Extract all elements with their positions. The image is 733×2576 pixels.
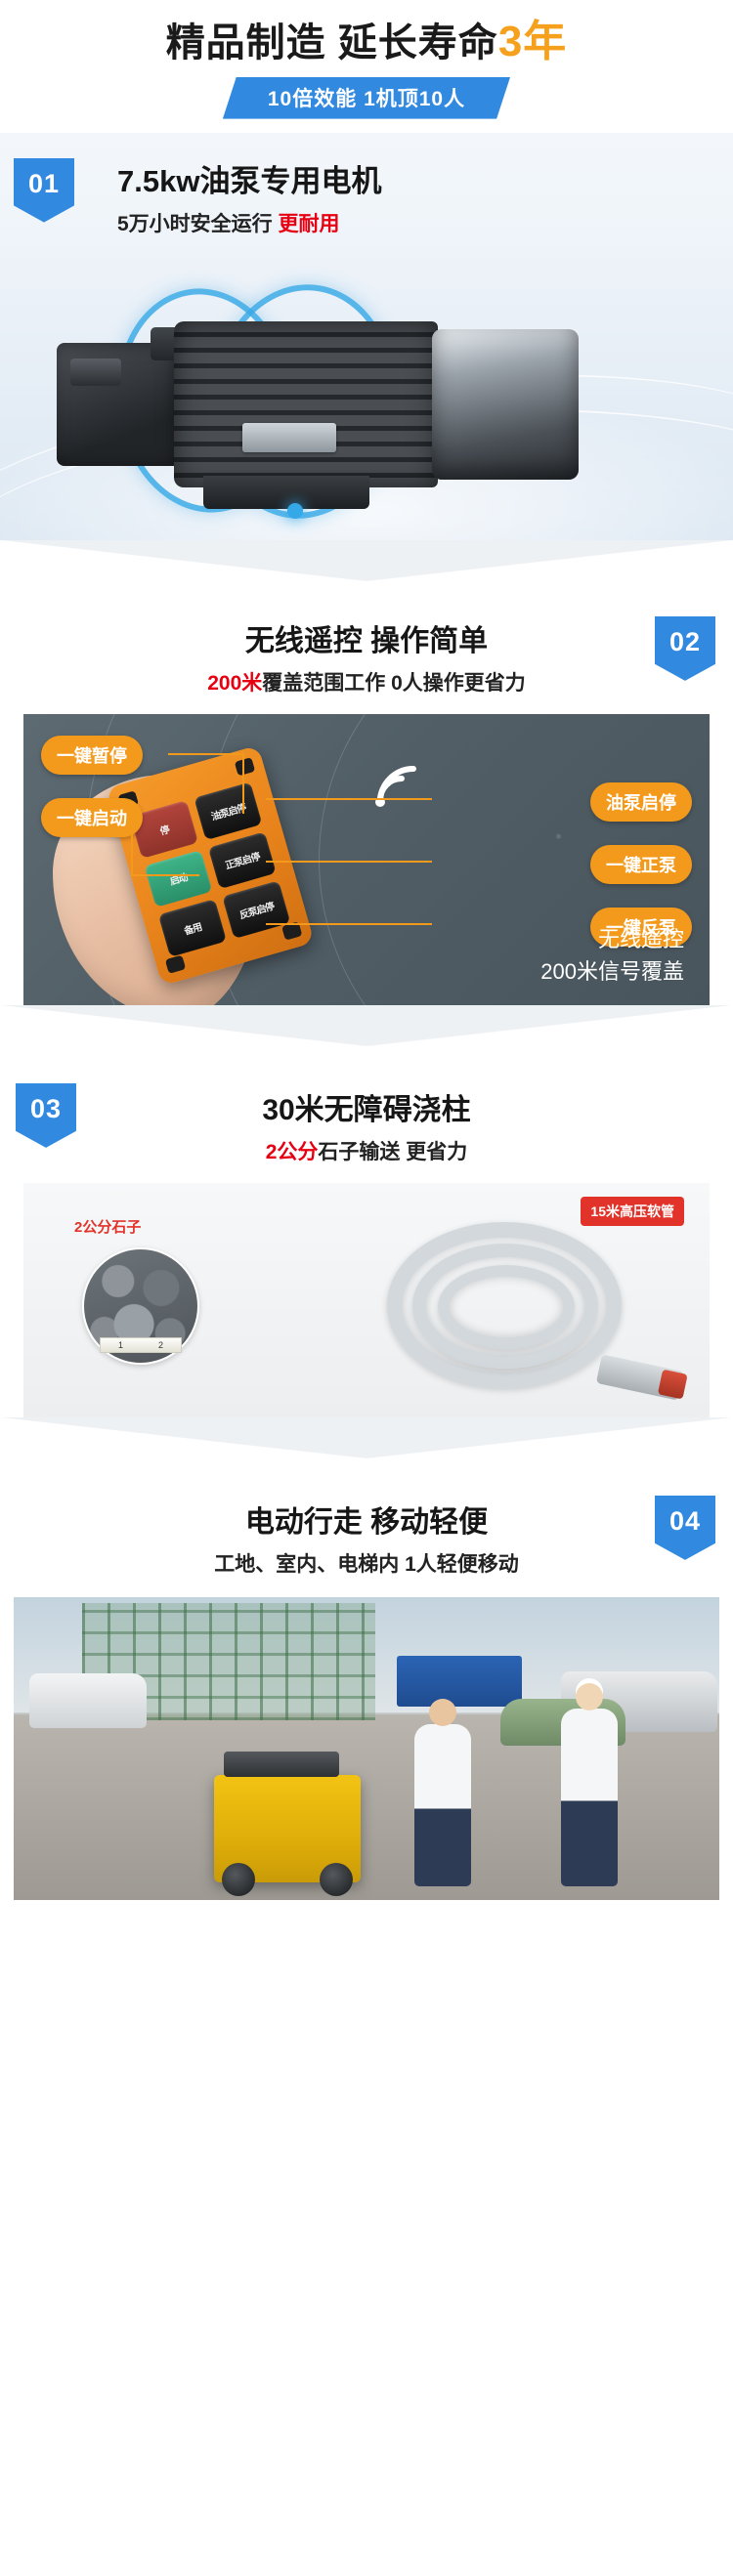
remote-key-reverse[interactable]: 反泵启停 (222, 881, 290, 939)
section-02-caption: 无线遥控 200米信号覆盖 (540, 923, 684, 988)
motor-gearbox (57, 343, 182, 466)
section-03-subtitle: 2公分石子输送 更省力 (0, 1136, 733, 1165)
hero-title-accent: 3年 (498, 18, 567, 65)
section-04-sub-bold: 1人轻便移动 (405, 1553, 519, 1576)
machine-wheel-left (222, 1863, 255, 1896)
section-01-badge: 01 (14, 158, 74, 223)
callout-pump-toggle: 油泵启停 (590, 782, 692, 822)
section-01-title: 7.5kw油泵专用电机 (117, 162, 733, 201)
motor-body (57, 321, 643, 487)
leader-line-reverse (266, 923, 432, 925)
hose-coil-inner (438, 1265, 575, 1349)
remote-screw-bl (165, 954, 186, 973)
section-02-subtitle: 200米覆盖范围工作 0人操作更省力 (0, 667, 733, 697)
motor-end-cap (432, 329, 579, 480)
motor-mounting-foot (203, 476, 369, 509)
hero-ribbon-wrapper: 10倍效能 1机顶10人 (0, 77, 733, 119)
product-detail-page: 精品制造 延长寿命3年 10倍效能 1机顶10人 01 7.5kw油泵专用电机 … (0, 0, 733, 1925)
section-02-sub-highlight: 200米 (207, 672, 262, 695)
hose-coupling-nozzle (596, 1354, 684, 1400)
wifi-signal-icon (370, 765, 423, 813)
motor-illustration (39, 280, 704, 525)
section-01-header: 01 7.5kw油泵专用电机 5万小时安全运行 更耐用 (0, 133, 733, 247)
motor-indicator-light (287, 503, 303, 519)
parked-van-left (29, 1673, 147, 1728)
motor-nameplate (242, 423, 336, 452)
section-03-photo: 2公分石子 1 2 15米高压软管 (23, 1183, 710, 1417)
section-02-sub-plain: 覆盖范围工作 0人操作更省力 (262, 672, 526, 695)
section-01-subtitle: 5万小时安全运行 更耐用 (117, 208, 733, 237)
section-04-subtitle: 工地、室内、电梯内 1人轻便移动 (0, 1548, 733, 1578)
section-divider-2 (0, 1005, 733, 1058)
callout-pause: 一键暂停 (41, 736, 143, 775)
machine-wheel-right (320, 1863, 353, 1896)
leader-line-forward (266, 861, 432, 863)
section-03-title: 30米无障碍浇柱 (0, 1091, 733, 1129)
worker-standing (561, 1709, 618, 1886)
remote-key-spare[interactable]: 备用 (158, 899, 227, 956)
callout-start: 一键启动 (41, 798, 143, 837)
section-01-photo (0, 247, 733, 540)
worker-pushing-machine (414, 1724, 471, 1886)
hero-ribbon: 10倍效能 1机顶10人 (223, 77, 510, 119)
leader-line-start (131, 822, 199, 876)
site-information-board (397, 1656, 522, 1707)
section-04: 04 电动行走 移动轻便 工地、室内、电梯内 1人轻便移动 (0, 1470, 733, 1900)
high-pressure-hose-coil (367, 1212, 690, 1398)
section-03-sub-highlight: 2公分 (266, 1141, 319, 1163)
leader-line-pause (168, 753, 244, 814)
section-02-photo: 停 油泵启停 启动 正泵启停 备用 反泵启停 一键暂停 (23, 714, 710, 1005)
section-03-header: 03 30米无障碍浇柱 2公分石子输送 更省力 (0, 1058, 733, 1177)
section-03-sub-plain: 石子输送 更省力 (318, 1141, 467, 1163)
hero-banner: 精品制造 延长寿命3年 10倍效能 1机顶10人 (0, 0, 733, 133)
ruler-scale: 1 2 (100, 1337, 182, 1353)
section-01-sub-plain: 5万小时安全运行 (117, 213, 279, 235)
leader-line-pump (266, 798, 432, 800)
section-02: 02 无线遥控 操作简单 200米覆盖范围工作 0人操作更省力 停 油泵启停 启… (0, 593, 733, 1005)
callout-forward: 一键正泵 (590, 845, 692, 884)
concrete-pump-machine (214, 1775, 361, 1882)
section-divider-3 (0, 1417, 733, 1470)
section-divider-1 (0, 540, 733, 593)
section-02-caption-line2: 200米信号覆盖 (540, 955, 684, 988)
ruler-mark-2: 2 (158, 1340, 163, 1350)
section-03: 03 30米无障碍浇柱 2公分石子输送 更省力 2公分石子 1 2 15米高压软… (0, 1058, 733, 1417)
label-stone-size: 2公分石子 (74, 1216, 141, 1237)
section-04-sub-plain: 工地、室内、电梯内 (214, 1553, 405, 1576)
motor-cooling-fins (174, 321, 438, 487)
section-01-sub-highlight: 更耐用 (279, 213, 340, 235)
section-04-photo (14, 1597, 719, 1900)
hero-title: 精品制造 延长寿命3年 (0, 18, 733, 67)
hero-title-main: 精品制造 延长寿命 (166, 21, 498, 64)
section-02-title: 无线遥控 操作简单 (0, 622, 733, 660)
section-01: 01 7.5kw油泵专用电机 5万小时安全运行 更耐用 (0, 133, 733, 540)
section-02-header: 02 无线遥控 操作简单 200米覆盖范围工作 0人操作更省力 (0, 593, 733, 708)
section-04-title: 电动行走 移动轻便 (0, 1503, 733, 1541)
section-02-caption-line1: 无线遥控 (540, 923, 684, 955)
section-04-header: 04 电动行走 移动轻便 工地、室内、电梯内 1人轻便移动 (0, 1470, 733, 1589)
ruler-mark-1: 1 (118, 1340, 123, 1350)
section-01-text: 7.5kw油泵专用电机 5万小时安全运行 更耐用 (117, 162, 733, 237)
